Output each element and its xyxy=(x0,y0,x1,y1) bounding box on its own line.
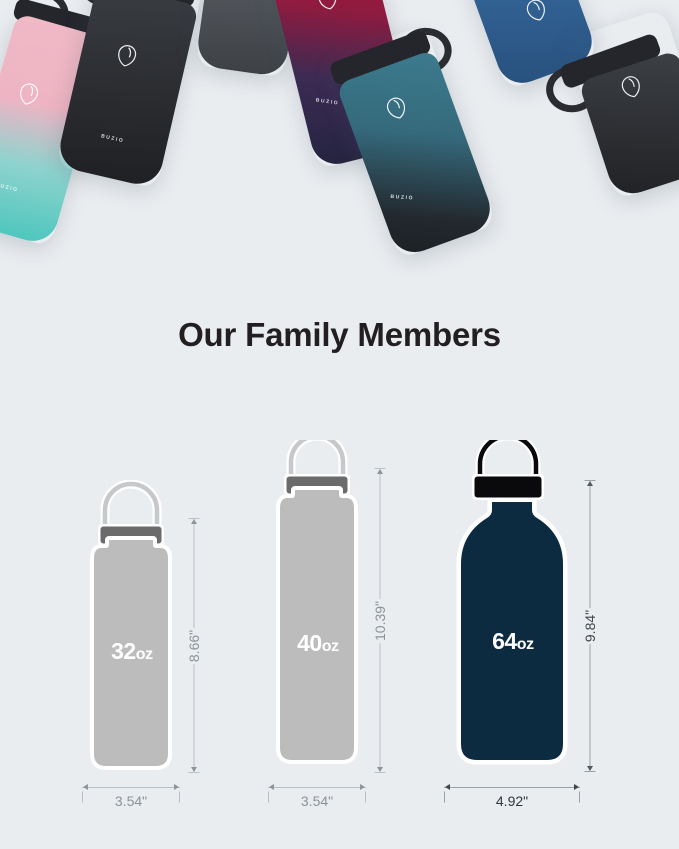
dimension-cap-bottom xyxy=(189,772,200,773)
dimension-cap-right xyxy=(179,792,180,803)
arrow-right-icon xyxy=(174,784,179,790)
arrow-right-icon xyxy=(574,784,579,790)
photo-bottle-black-2 xyxy=(565,8,679,200)
height-dimension-40oz: 10.39" xyxy=(370,468,390,773)
bottle-illustration-40oz xyxy=(258,440,376,780)
capacity-unit: oz xyxy=(136,646,153,663)
dimension-cap-left xyxy=(82,792,83,803)
bottle-illustration-32oz xyxy=(72,480,190,780)
dimension-line xyxy=(82,787,180,788)
width-value-64oz: 4.92" xyxy=(496,793,528,809)
arrow-down-icon xyxy=(587,766,593,771)
height-value-32oz: 8.66" xyxy=(183,627,205,663)
arrow-down-icon xyxy=(377,767,383,772)
width-dimension-40oz: 3.54" xyxy=(268,787,366,807)
arrow-left-icon xyxy=(445,784,450,790)
capacity-label-32oz: 32oz xyxy=(72,638,192,665)
dimension-cap-left xyxy=(444,792,445,803)
capacity-number: 40 xyxy=(297,630,322,656)
capacity-number: 64 xyxy=(492,628,517,654)
height-value-40oz: 10.39" xyxy=(369,598,391,642)
bottle-body-40oz xyxy=(280,490,354,760)
arrow-left-icon xyxy=(269,784,274,790)
arrow-up-icon xyxy=(191,519,197,524)
capacity-unit: oz xyxy=(322,638,339,655)
capacity-number: 32 xyxy=(111,638,136,664)
capacity-unit: oz xyxy=(517,636,534,653)
arrow-up-icon xyxy=(377,469,383,474)
width-value-40oz: 3.54" xyxy=(301,793,333,809)
size-comparison-diagram: 32oz 8.66" 3.54" xyxy=(0,440,679,840)
width-value-32oz: 3.54" xyxy=(115,793,147,809)
dimension-cap-right xyxy=(365,792,366,803)
width-dimension-64oz: 4.92" xyxy=(444,787,580,807)
dimension-cap-left xyxy=(268,792,269,803)
capacity-label-64oz: 64oz xyxy=(438,628,588,655)
capacity-label-40oz: 40oz xyxy=(258,630,378,657)
hero-product-photo: BUZIO BUZIO BUZIO xyxy=(0,0,679,292)
dimension-cap-bottom xyxy=(585,771,596,772)
width-dimension-32oz: 3.54" xyxy=(82,787,180,807)
bottle-spec-40oz: 40oz 10.39" 3.54" xyxy=(258,440,378,780)
bottle-spec-32oz: 32oz 8.66" 3.54" xyxy=(72,480,192,780)
arrow-up-icon xyxy=(587,481,593,486)
dimension-line xyxy=(268,787,366,788)
height-value-64oz: 9.84" xyxy=(579,608,601,644)
arrow-right-icon xyxy=(360,784,365,790)
arrow-left-icon xyxy=(83,784,88,790)
cap-band xyxy=(475,477,542,498)
bottle-spec-64oz: 64oz 9.84" 4.92" xyxy=(438,440,588,780)
dimension-cap-right xyxy=(579,792,580,803)
bottle-illustration-64oz xyxy=(438,440,586,780)
dimension-line xyxy=(444,787,580,788)
height-dimension-64oz: 9.84" xyxy=(580,480,600,772)
height-dimension-32oz: 8.66" xyxy=(184,518,204,773)
product-spec-page: BUZIO BUZIO BUZIO xyxy=(0,0,679,849)
arrow-down-icon xyxy=(191,767,197,772)
page-title: Our Family Members xyxy=(0,316,679,354)
dimension-cap-bottom xyxy=(375,772,386,773)
